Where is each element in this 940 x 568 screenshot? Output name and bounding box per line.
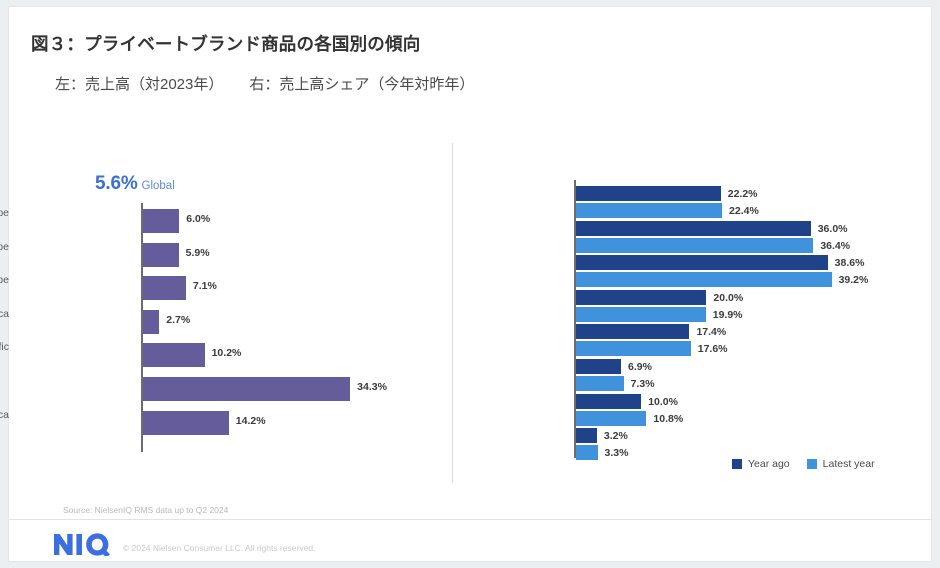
right-bar-value-label: 19.9% [713,309,743,321]
right-bar-year-ago [576,290,706,305]
right-bar-value-label: 6.9% [628,361,652,373]
right-bar-latest-year [576,376,624,391]
left-bar [143,276,186,300]
right-bar-year-ago [576,221,811,236]
panel-divider [452,143,453,483]
legend-swatch [732,459,742,469]
right-bar-value-label: 10.0% [648,396,678,408]
left-bar-value-label: 10.2% [212,347,242,359]
left-bar [143,209,179,233]
left-bar [143,243,179,267]
right-bar-value-label: 3.2% [604,430,628,442]
right-bar-year-ago [576,359,621,374]
left-bar-category-label: Africa MiddleEast [0,371,9,397]
legend-label: Year ago [748,458,790,470]
right-bar-value-label: 22.2% [728,188,758,200]
global-callout-value: 5.6% [95,173,138,194]
left-bar-category-label: East Europe [0,274,9,287]
right-bar-latest-year [576,238,813,253]
right-bar-value-label: 39.2% [839,274,869,286]
right-bar-value-label: 38.6% [835,257,865,269]
left-bar-value-label: 2.7% [166,314,190,326]
legend-item: Latest year [807,458,875,470]
right-bar-value-label: 20.0% [713,292,743,304]
right-bar-year-ago [576,394,641,409]
right-bar-year-ago [576,324,689,339]
right-bar-value-label: 36.0% [818,223,848,235]
right-bar-value-label: 3.3% [605,447,629,459]
left-bar-value-label: 14.2% [236,415,266,427]
slide-canvas: 図３：プライベートブランド商品の各国別の傾向 左：売上高（対2023年）右：売上… [8,6,932,562]
left-bar [143,343,205,367]
left-bar-category-label: Asia Pacific [0,341,9,354]
right-bar-value-label: 10.8% [653,413,683,425]
left-bar [143,377,350,401]
right-bar-value-label: 7.3% [631,378,655,390]
footer: © 2024 Nielsen Consumer LLC. All rights … [9,520,933,563]
chart-legend: Year agoLatest year [732,458,875,470]
right-bar-value-label: 22.4% [729,205,759,217]
legend-swatch [807,459,817,469]
global-callout: 5.6%Global [95,173,175,195]
right-bar-value-label: 17.6% [698,343,728,355]
niq-logo [53,533,115,561]
right-bar-latest-year [576,203,722,218]
left-bar-category-label: Europe [0,207,9,220]
right-bar-value-label: 36.4% [820,240,850,252]
right-bar-year-ago [576,186,721,201]
left-bar-category-label: Latin America [0,409,9,422]
left-bar-category-label: North America [0,308,9,321]
right-bar-value-label: 17.4% [696,326,726,338]
left-bar-value-label: 5.9% [186,247,210,259]
legend-label: Latest year [823,458,875,470]
right-bar-latest-year [576,411,646,426]
right-bar-latest-year [576,341,691,356]
global-callout-label: Global [142,180,175,192]
legend-item: Year ago [732,458,790,470]
left-chart-panel: 5.6%Global Europe6.0%West Europe5.9%East… [9,7,452,563]
right-bar-latest-year [576,272,832,287]
left-bar-value-label: 34.3% [357,381,387,393]
right-bar-latest-year [576,307,706,322]
left-bar [143,310,159,334]
left-bar-value-label: 7.1% [193,280,217,292]
right-bar-latest-year [576,445,598,460]
left-bar-value-label: 6.0% [186,213,210,225]
right-bar-year-ago [576,428,597,443]
source-note: Source: NielsenIQ RMS data up to Q2 2024 [63,505,228,515]
right-bar-year-ago [576,255,828,270]
copyright-text: © 2024 Nielsen Consumer LLC. All rights … [123,543,315,553]
left-bar-category-label: West Europe [0,241,9,254]
left-bar [143,411,229,435]
